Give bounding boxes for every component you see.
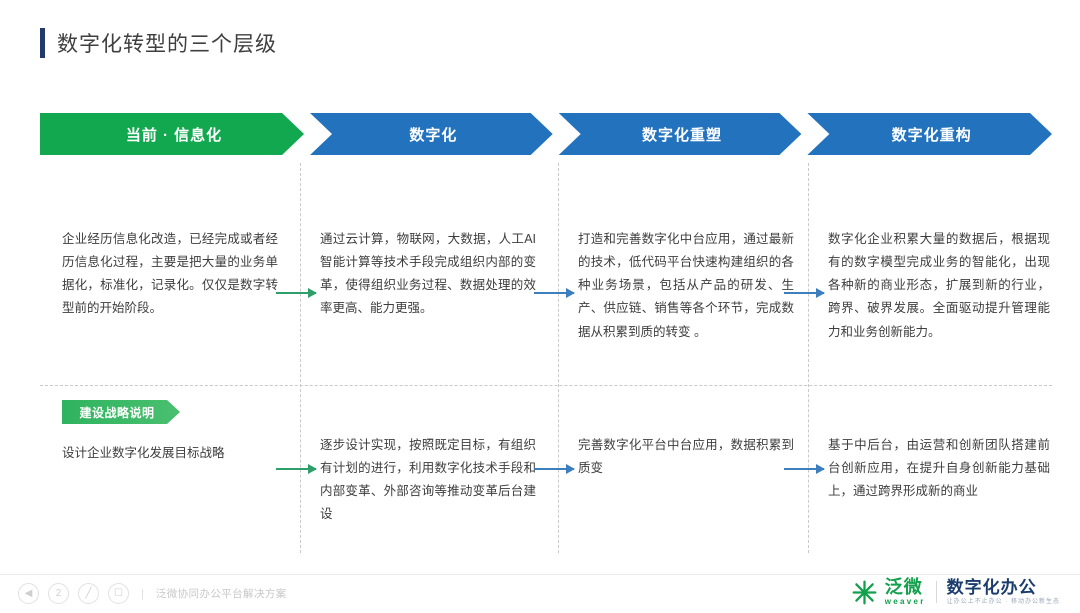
- stage-label-1: 当前 · 信息化: [126, 124, 222, 145]
- description-column-2: 通过云计算，物联网，大数据，人工AI智能计算等技术手段完成组织内部的变革，使得组…: [320, 228, 536, 321]
- title-text: 数字化转型的三个层级: [57, 28, 277, 58]
- stage-chevron-3[interactable]: 数字化重塑: [559, 113, 802, 155]
- stage-chevron-2[interactable]: 数字化: [310, 113, 553, 155]
- footer-separator: |: [141, 588, 144, 600]
- column-divider-2: [558, 163, 559, 553]
- slide-canvas: 数字化转型的三个层级 当前 · 信息化 数字化 数字化重塑 数字化重构 企业经历…: [0, 0, 1080, 613]
- arrow-head-icon: [308, 288, 317, 298]
- row-divider: [40, 385, 1052, 386]
- brand-logo: 泛微 weaver 数字化办公 让办公上不止办公 · 移动办公新生态: [851, 576, 1060, 608]
- stage-label-3: 数字化重塑: [642, 124, 722, 145]
- flow-arrow-row2-1: [276, 468, 316, 470]
- product-name-cn: 数字化办公: [947, 579, 1060, 596]
- footer-toolbar: ◀ 2 ╱ ☐ | 泛微协同办公平台解决方案: [18, 583, 287, 604]
- copy-icon[interactable]: ☐: [108, 583, 129, 604]
- column-divider-3: [808, 163, 809, 553]
- pen-icon[interactable]: ╱: [78, 583, 99, 604]
- column-divider-1: [300, 163, 301, 553]
- flow-arrow-row2-2: [534, 468, 574, 470]
- arrow-head-icon: [816, 464, 825, 474]
- back-icon[interactable]: ◀: [18, 583, 39, 604]
- description-column-3: 打造和完善数字化中台应用，通过最新的技术，低代码平台快速构建组织的各种业务场景，…: [578, 228, 794, 344]
- page-number-badge[interactable]: 2: [48, 583, 69, 604]
- stage-label-2: 数字化: [409, 124, 457, 145]
- description-column-4: 数字化企业积累大量的数据后，根据现有的数字模型完成业务的智能化，出现各种新的商业…: [828, 228, 1050, 344]
- flow-arrow-row1-2: [534, 292, 574, 294]
- flow-arrow-row1-3: [784, 292, 824, 294]
- footer-divider: [0, 574, 1080, 575]
- arrow-head-icon: [566, 464, 575, 474]
- description-column-1: 企业经历信息化改造，已经完成或者经历信息化过程，主要是把大量的业务单据化，标准化…: [62, 228, 278, 321]
- brand-name-en: weaver: [885, 598, 926, 606]
- star-center: [861, 589, 867, 595]
- arrow-head-icon: [816, 288, 825, 298]
- stage-ribbon: 当前 · 信息化 数字化 数字化重塑 数字化重构: [40, 113, 1052, 155]
- strategy-column-3: 完善数字化平台中台应用，数据积累到质变: [578, 434, 794, 480]
- logo-divider: [936, 581, 937, 603]
- strategy-badge: 建设战略说明: [62, 400, 180, 424]
- strategy-column-4: 基于中后台，由运营和创新团队搭建前台创新应用，在提升自身创新能力基础上，通过跨界…: [828, 434, 1050, 503]
- title-accent-bar: [40, 28, 45, 58]
- brand-name-block: 泛微 weaver: [885, 578, 926, 606]
- stage-chevron-4[interactable]: 数字化重构: [807, 113, 1052, 155]
- product-name-sub: 让办公上不止办公 · 移动办公新生态: [947, 599, 1060, 605]
- page-title: 数字化转型的三个层级: [40, 28, 277, 58]
- flow-arrow-row1-1: [276, 292, 316, 294]
- stage-chevron-1[interactable]: 当前 · 信息化: [40, 113, 304, 155]
- arrow-head-icon: [308, 464, 317, 474]
- strategy-column-1: 设计企业数字化发展目标战略: [62, 442, 278, 465]
- flow-arrow-row2-3: [784, 468, 824, 470]
- weaver-star-icon: [851, 579, 878, 606]
- brand-name-cn: 泛微: [885, 578, 926, 596]
- strategy-badge-label: 建设战略说明: [79, 404, 154, 421]
- footer-caption: 泛微协同办公平台解决方案: [156, 586, 287, 601]
- strategy-column-2: 逐步设计实现，按照既定目标，有组织有计划的进行，利用数字化技术手段和内部变革、外…: [320, 434, 536, 527]
- product-name-block: 数字化办公 让办公上不止办公 · 移动办公新生态: [947, 579, 1060, 605]
- arrow-head-icon: [566, 288, 575, 298]
- stage-label-4: 数字化重构: [892, 124, 972, 145]
